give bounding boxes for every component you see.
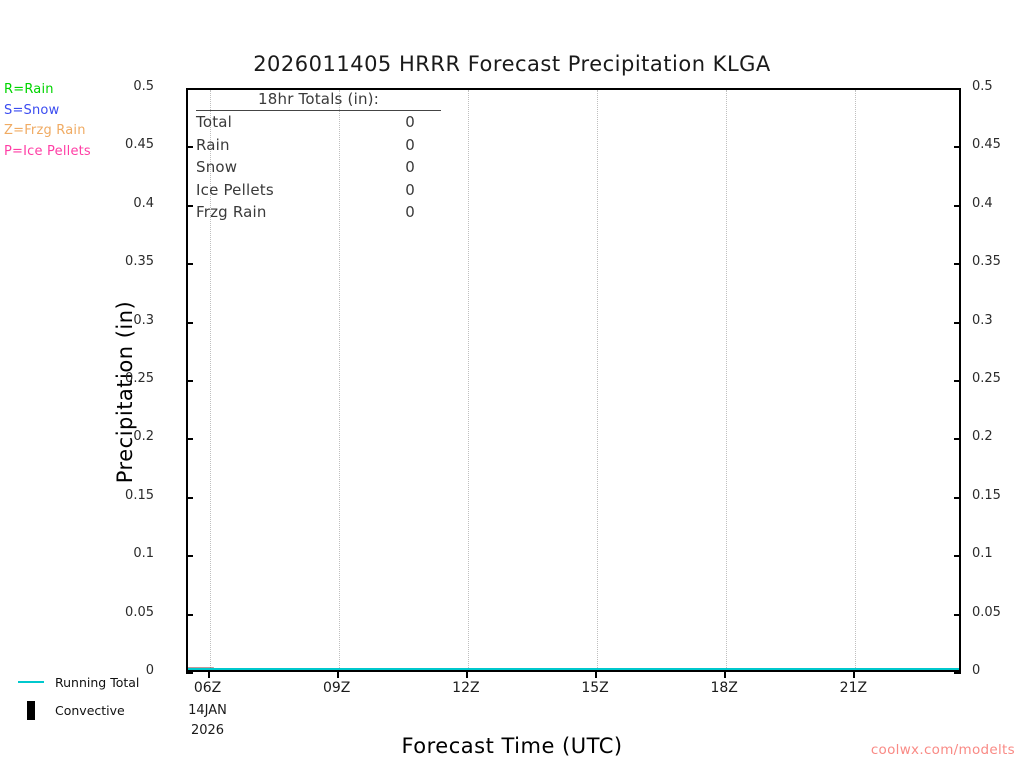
x-axis-tick-label: 09Z (323, 680, 350, 696)
x-axis-tickmark (724, 672, 726, 678)
y-axis-tickmark-left (186, 322, 193, 324)
y-axis-tick-label-left: 0.35 (0, 254, 170, 269)
totals-box: 18hr Totals (in): Total 0 Rain 0 Snow 0 … (196, 90, 441, 224)
y-axis-tick-label-right: 0.35 (972, 254, 1001, 269)
legend-entry-convective: Convective (14, 696, 139, 724)
y-axis-tick-label-left: 0.45 (0, 137, 170, 152)
y-axis-tick-label-left: 0.3 (0, 313, 170, 328)
x-axis-tick-label: 21Z (840, 680, 867, 696)
totals-label: Frzg Rain (196, 201, 267, 224)
y-axis-tickmark-right (954, 263, 961, 265)
legend-label: Convective (55, 703, 125, 718)
totals-label: Snow (196, 156, 237, 179)
y-axis-tickmark-right (954, 146, 961, 148)
totals-label: Total (196, 111, 232, 134)
y-axis-tickmark-left (186, 672, 193, 674)
y-axis-tickmark-left (186, 438, 193, 440)
totals-value: 0 (405, 156, 441, 179)
totals-value: 0 (405, 134, 441, 157)
y-axis-tick-label-right: 0.1 (972, 546, 993, 561)
y-axis-tick-label-right: 0.25 (972, 371, 1001, 386)
y-axis-tickmark-right (954, 322, 961, 324)
x-axis-tickmark (853, 672, 855, 678)
y-axis-tickmark-left (186, 205, 193, 207)
totals-label: Ice Pellets (196, 179, 274, 202)
y-axis-tick-label-right: 0.3 (972, 313, 993, 328)
y-axis-tickmark-right (954, 205, 961, 207)
x-axis-tick-label: 12Z (452, 680, 479, 696)
totals-row-rain: Rain 0 (196, 134, 441, 157)
y-axis-tickmark-left (186, 146, 193, 148)
x-axis-tick-label: 15Z (581, 680, 608, 696)
y-axis-tick-label-left: 0.2 (0, 429, 170, 444)
y-axis-tick-label-left: 0.05 (0, 605, 170, 620)
y-axis-tick-label-right: 0.4 (972, 196, 993, 211)
y-axis-tick-label-left: 0 (0, 663, 170, 678)
y-axis-tick-label-right: 0.2 (972, 429, 993, 444)
bar-swatch-icon (27, 701, 35, 720)
totals-header: 18hr Totals (in): (196, 90, 441, 111)
x-axis-date-year: 2026 (191, 723, 224, 738)
x-axis-tickmark (595, 672, 597, 678)
totals-row-snow: Snow 0 (196, 156, 441, 179)
y-axis-tickmark-left (186, 380, 193, 382)
y-axis-tickmark-right (954, 555, 961, 557)
y-axis-tickmark-left (186, 88, 193, 90)
y-axis-tickmark-right (954, 88, 961, 90)
y-axis-tickmark-left (186, 497, 193, 499)
y-axis-tick-label-right: 0.05 (972, 605, 1001, 620)
x-axis-tickmark (337, 672, 339, 678)
totals-value: 0 (405, 111, 441, 134)
y-axis-title: Precipitation (in) (113, 262, 137, 522)
y-axis-tick-label-right: 0.5 (972, 79, 993, 94)
x-axis-date-day: 14JAN (188, 703, 227, 718)
totals-row-ice-pellets: Ice Pellets 0 (196, 179, 441, 202)
y-axis-tickmark-right (954, 497, 961, 499)
y-axis-tick-label-left: 0.1 (0, 546, 170, 561)
y-axis-tickmark-right (954, 672, 961, 674)
y-axis-tick-label-left: 0.5 (0, 79, 170, 94)
watermark: coolwx.com/modelts (871, 742, 1015, 758)
legend-item-snow: S=Snow (4, 101, 91, 122)
y-axis-tick-label-left: 0.4 (0, 196, 170, 211)
y-axis-tickmark-left (186, 263, 193, 265)
y-axis-tickmark-right (954, 614, 961, 616)
y-axis-tick-label-right: 0.45 (972, 137, 1001, 152)
totals-label: Rain (196, 134, 230, 157)
page-title: 2026011405 HRRR Forecast Precipitation K… (0, 52, 1024, 76)
totals-row-total: Total 0 (196, 111, 441, 134)
x-axis-tickmark (208, 672, 210, 678)
totals-value: 0 (405, 201, 441, 224)
totals-row-frzg-rain: Frzg Rain 0 (196, 201, 441, 224)
x-axis-tick-label: 06Z (194, 680, 221, 696)
y-axis-tick-label-left: 0.25 (0, 371, 170, 386)
y-axis-tick-label-right: 0 (972, 663, 980, 678)
y-axis-tickmark-left (186, 555, 193, 557)
x-axis-tick-label: 18Z (710, 680, 737, 696)
y-axis-tick-label-left: 0.15 (0, 488, 170, 503)
x-axis-tickmark (466, 672, 468, 678)
y-axis-tick-label-right: 0.15 (972, 488, 1001, 503)
y-axis-tickmark-right (954, 438, 961, 440)
y-axis-tickmark-left (186, 614, 193, 616)
line-swatch-icon (18, 681, 44, 683)
totals-value: 0 (405, 179, 441, 202)
y-axis-tickmark-right (954, 380, 961, 382)
